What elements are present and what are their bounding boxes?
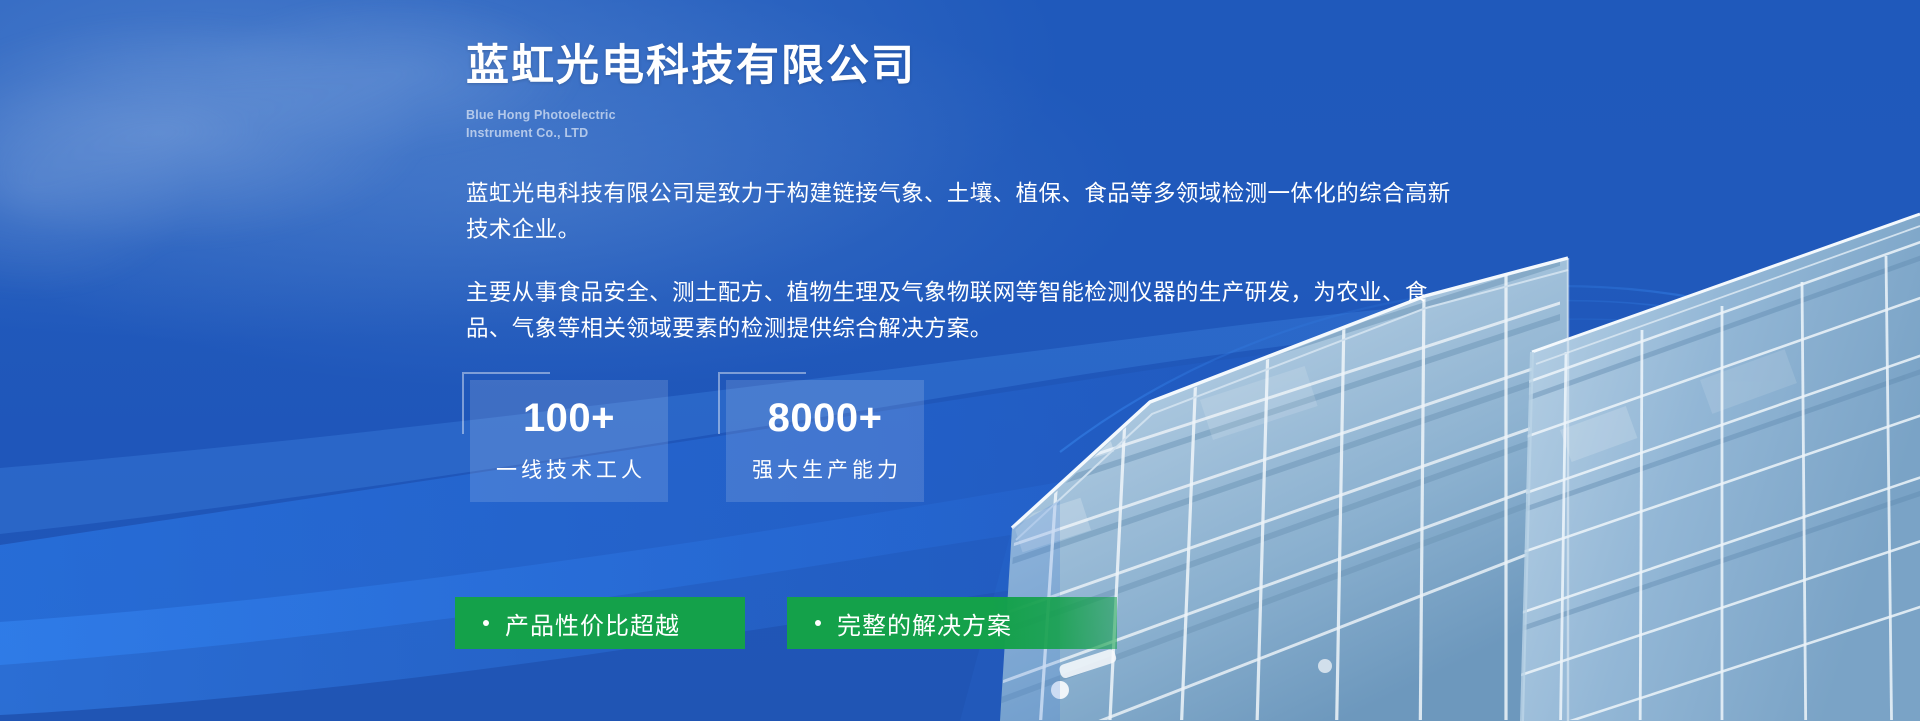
stat-value: 8000+: [768, 398, 883, 438]
feature-bar: 产品性价比超越 完整的解决方案: [455, 597, 1117, 649]
feature-label: 产品性价比超越: [505, 606, 680, 641]
stat-label: 一线技术工人: [492, 454, 646, 484]
stats-group: 100+ 一线技术工人 8000+ 强大生产能力: [470, 380, 924, 502]
bullet-dot-icon: [483, 620, 489, 626]
stat-card-workers: 100+ 一线技术工人: [470, 380, 668, 502]
stat-label: 强大生产能力: [748, 454, 902, 484]
banner-text-block: 蓝虹光电科技有限公司 Blue Hong Photoelectric Instr…: [466, 40, 1486, 348]
feature-spacer: [745, 597, 787, 649]
company-description-1: 蓝虹光电科技有限公司是致力于构建链接气象、土壤、植保、食品等多领域检测一体化的综…: [466, 176, 1451, 249]
company-description-2: 主要从事食品安全、测土配方、植物生理及气象物联网等智能检测仪器的生产研发，为农业…: [466, 275, 1451, 348]
feature-label: 完整的解决方案: [837, 606, 1012, 641]
feature-item-solution: 完整的解决方案: [787, 597, 1117, 649]
subtitle-line-2: Instrument Co., LTD: [466, 124, 1486, 142]
bullet-dot-icon: [815, 620, 821, 626]
company-title: 蓝虹光电科技有限公司: [466, 40, 1486, 94]
company-hero-banner: 蓝虹光电科技有限公司 Blue Hong Photoelectric Instr…: [0, 0, 1920, 721]
stat-card-capacity: 8000+ 强大生产能力: [726, 380, 924, 502]
subtitle-line-1: Blue Hong Photoelectric: [466, 106, 1486, 124]
stat-value: 100+: [523, 398, 615, 438]
company-subtitle-en: Blue Hong Photoelectric Instrument Co., …: [466, 106, 1486, 142]
feature-item-value: 产品性价比超越: [455, 597, 745, 649]
